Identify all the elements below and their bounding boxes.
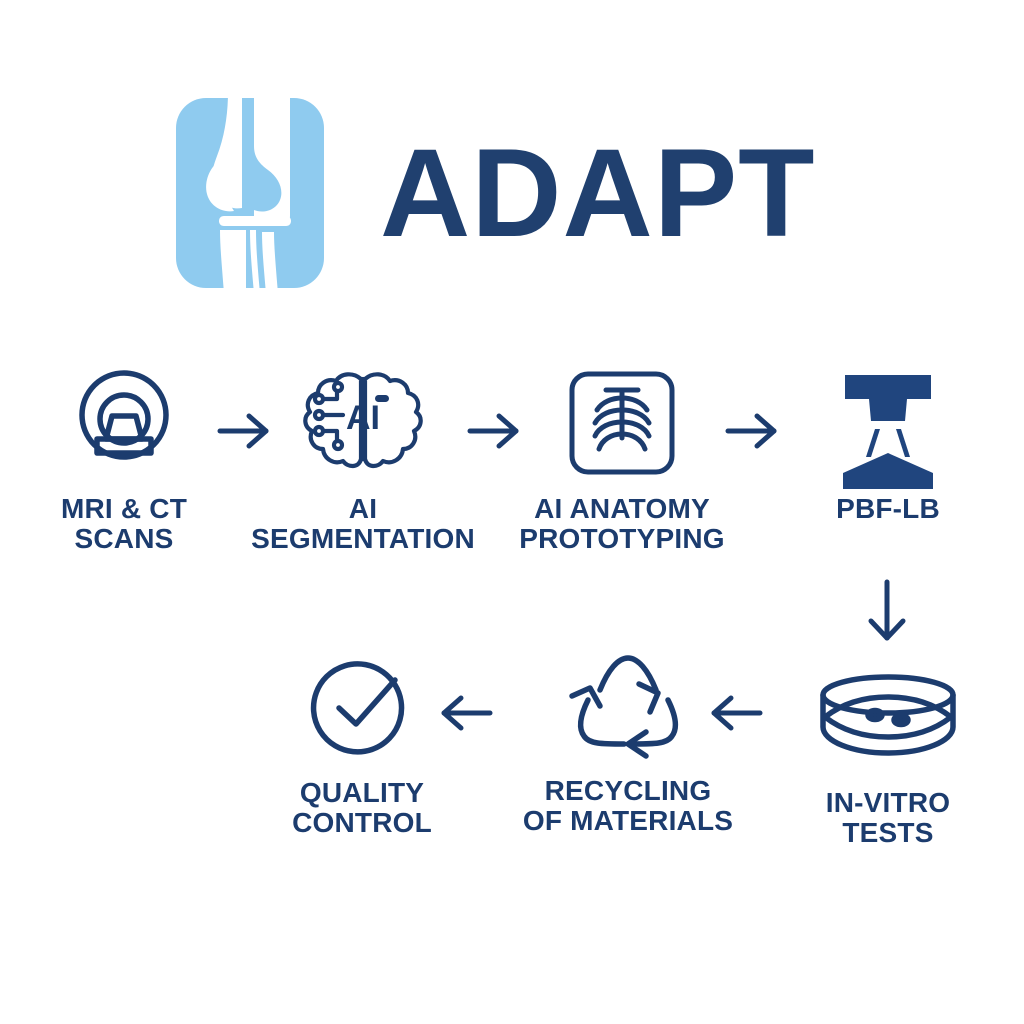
ai-brain-icon: AI xyxy=(297,368,429,478)
diagram-canvas: ADAPT MRI & CT SCANS xyxy=(0,0,1024,1024)
flow-node-pbf-lb[interactable]: PBF-LB xyxy=(790,368,986,524)
flow-node-mri-ct-scans[interactable]: MRI & CT SCANS xyxy=(24,368,224,554)
ct-scanner-icon xyxy=(66,368,182,478)
arrow-left-icon xyxy=(706,688,764,743)
flow-node-ai-anatomy-prototyping[interactable]: AI ANATOMY PROTOTYPING xyxy=(498,368,746,554)
arrow-left-icon xyxy=(436,688,494,743)
flow-node-quality-control[interactable]: QUALITY CONTROL xyxy=(262,652,462,838)
flow-node-label: AI SEGMENTATION xyxy=(251,494,475,554)
laser-powder-bed-fusion-icon xyxy=(835,368,941,478)
page-title: ADAPT xyxy=(380,131,816,256)
xray-ribcage-icon xyxy=(566,368,678,478)
arrow-right-icon xyxy=(466,406,524,461)
flow-node-label: AI ANATOMY PROTOTYPING xyxy=(519,494,725,554)
arrow-down-icon xyxy=(862,578,912,651)
knee-joint-icon xyxy=(176,98,324,288)
arrow-right-icon xyxy=(724,406,782,461)
svg-text:AI: AI xyxy=(346,399,380,437)
recycling-icon xyxy=(564,650,692,760)
flow-node-label: IN-VITRO TESTS xyxy=(826,788,950,848)
flow-node-label: RECYCLING OF MATERIALS xyxy=(523,776,733,836)
brand-header: ADAPT xyxy=(176,98,816,288)
check-circle-icon xyxy=(311,652,413,762)
petri-dish-icon xyxy=(813,662,963,772)
flow-node-label: QUALITY CONTROL xyxy=(292,778,432,838)
flow-node-recycling-of-materials[interactable]: RECYCLING OF MATERIALS xyxy=(508,650,748,836)
flow-node-label: PBF-LB xyxy=(836,494,940,524)
flow-node-in-vitro-tests[interactable]: IN-VITRO TESTS xyxy=(792,662,984,848)
flow-node-label: MRI & CT SCANS xyxy=(61,494,187,554)
flow-node-ai-segmentation[interactable]: AI AI SEGMENTATION xyxy=(238,368,488,554)
arrow-right-icon xyxy=(216,406,274,461)
